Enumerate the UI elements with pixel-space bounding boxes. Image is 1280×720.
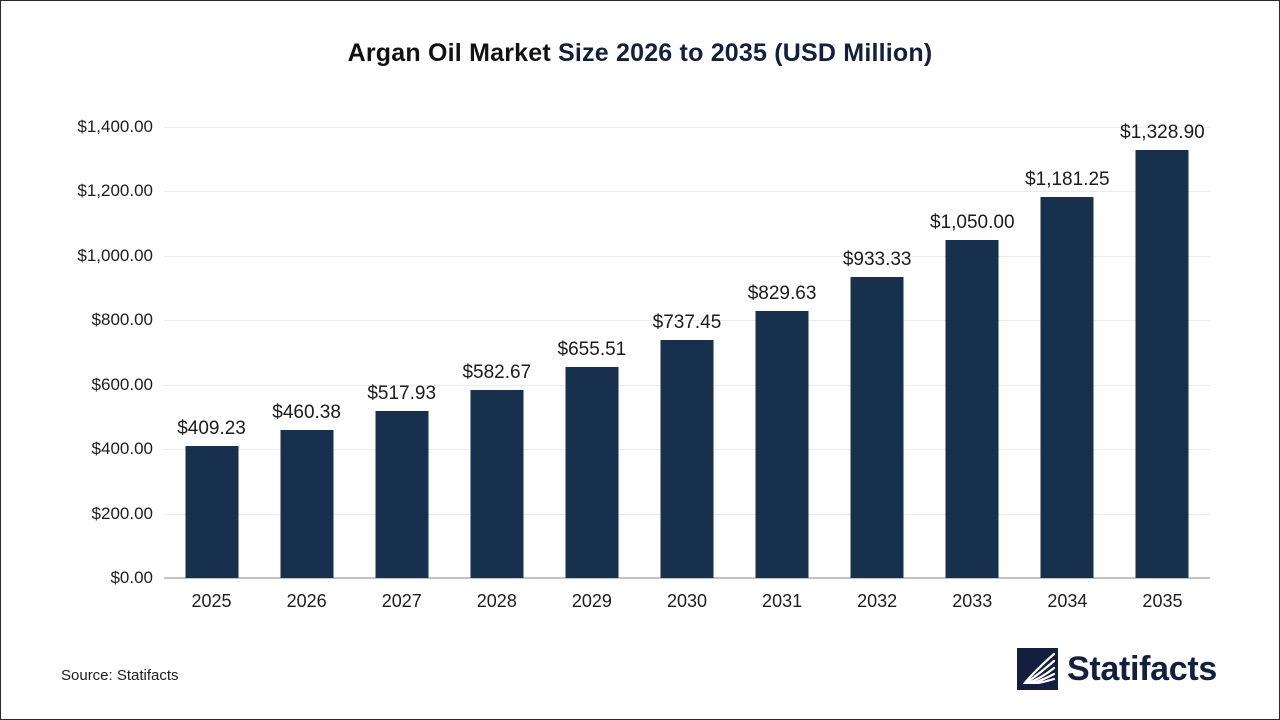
page-title-secondary: Size 2026 to 2035 (USD Million)	[558, 39, 932, 67]
bar-value-label-2034: $1,181.25	[1025, 169, 1110, 191]
y-axis: $0.00$200.00$400.00$600.00$800.00$1,000.…	[1, 127, 153, 578]
bar-slot: $582.67	[449, 127, 544, 578]
bar-value-label-2033: $1,050.00	[930, 212, 1015, 234]
bar-value-label-2025: $409.23	[177, 418, 246, 440]
bar-value-label-2031: $829.63	[748, 283, 817, 305]
bar-2031[interactable]	[756, 311, 809, 578]
page-title-primary: Argan Oil Market	[348, 39, 558, 67]
bar-value-label-2027: $517.93	[367, 383, 436, 405]
x-axis-tick-label-2031: 2031	[762, 591, 802, 612]
page-title: Argan Oil Market Size 2026 to 2035 (USD …	[1, 39, 1279, 68]
chart-page: Argan Oil Market Size 2026 to 2035 (USD …	[0, 0, 1280, 720]
bar-2034[interactable]	[1041, 197, 1094, 578]
y-axis-tick-label: $0.00	[110, 568, 153, 588]
bar-value-label-2029: $655.51	[558, 339, 627, 361]
y-axis-tick-label: $1,000.00	[77, 246, 153, 266]
bar-value-label-2026: $460.38	[272, 402, 341, 424]
y-axis-tick-label: $200.00	[92, 504, 153, 524]
statifacts-logo: Statifacts	[1017, 648, 1217, 690]
bar-slot: $460.38	[259, 127, 354, 578]
y-axis-tick-label: $1,400.00	[77, 117, 153, 137]
bar-value-label-2028: $582.67	[462, 362, 531, 384]
bar-2026[interactable]	[280, 430, 333, 578]
x-axis-tick-label-2027: 2027	[382, 591, 422, 612]
bar-slot: $933.33	[830, 127, 925, 578]
source-note: Source: Statifacts	[61, 667, 179, 684]
y-axis-tick-label: $400.00	[92, 439, 153, 459]
x-axis-tick-label-2034: 2034	[1047, 591, 1087, 612]
bar-2033[interactable]	[946, 240, 999, 578]
bar-slot: $1,181.25	[1020, 127, 1115, 578]
x-axis-tick-label-2026: 2026	[287, 591, 327, 612]
plot-area: $409.23$460.38$517.93$582.67$655.51$737.…	[164, 127, 1210, 578]
bar-slot: $1,050.00	[925, 127, 1020, 578]
bar-value-label-2035: $1,328.90	[1120, 122, 1205, 144]
bar-value-label-2030: $737.45	[653, 312, 722, 334]
bar-2027[interactable]	[375, 411, 428, 578]
x-axis-tick-label-2029: 2029	[572, 591, 612, 612]
bar-2030[interactable]	[660, 340, 713, 578]
bar-2032[interactable]	[851, 277, 904, 578]
x-axis-tick-label-2035: 2035	[1142, 591, 1182, 612]
statifacts-wave-mark	[1017, 648, 1058, 690]
y-axis-tick-label: $800.00	[92, 310, 153, 330]
logo-wordmark: Statifacts	[1067, 652, 1217, 686]
x-axis-tick-label-2028: 2028	[477, 591, 517, 612]
x-axis-tick-label-2030: 2030	[667, 591, 707, 612]
y-axis-tick-label: $1,200.00	[77, 181, 153, 201]
bar-2025[interactable]	[185, 446, 238, 578]
bar-slot: $409.23	[164, 127, 259, 578]
x-axis-tick-label-2033: 2033	[952, 591, 992, 612]
x-axis-tick-label-2025: 2025	[192, 591, 232, 612]
bar-2035[interactable]	[1136, 150, 1189, 578]
y-axis-tick-label: $600.00	[92, 375, 153, 395]
bar-2028[interactable]	[470, 390, 523, 578]
bar-value-label-2032: $933.33	[843, 249, 912, 271]
bar-slot: $517.93	[354, 127, 449, 578]
bar-slot: $829.63	[735, 127, 830, 578]
x-axis-tick-label-2032: 2032	[857, 591, 897, 612]
bar-slot: $655.51	[544, 127, 639, 578]
x-axis: 2025202620272028202920302031203220332034…	[164, 591, 1210, 621]
bar-slot: $737.45	[639, 127, 734, 578]
bar-slot: $1,328.90	[1115, 127, 1210, 578]
bar-2029[interactable]	[565, 367, 618, 578]
